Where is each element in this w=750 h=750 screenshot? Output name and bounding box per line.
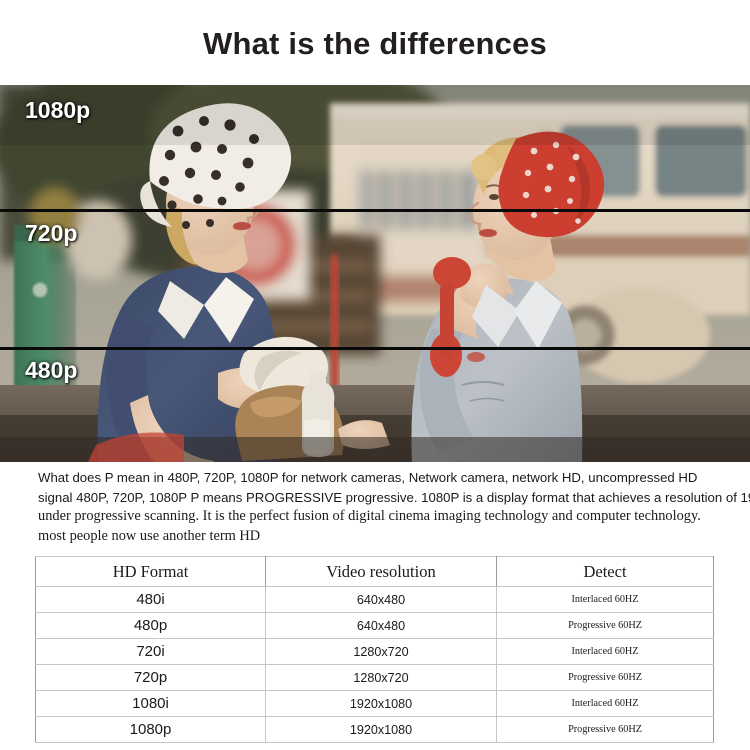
- cell-resolution: 640x480: [266, 587, 497, 613]
- photo-illustration: [0, 85, 750, 462]
- table-header-hd-format: HD Format: [36, 557, 266, 587]
- resolution-label-480p: 480p: [25, 359, 77, 382]
- paragraph-line-1: What does P mean in 480P, 720P, 1080P fo…: [38, 468, 750, 488]
- paragraph-line-2: signal 480P, 720P, 1080P P means PROGRES…: [38, 488, 750, 508]
- cell-resolution: 640x480: [266, 613, 497, 639]
- page-title: What is the differences: [0, 26, 750, 62]
- resolution-label-1080p: 1080p: [25, 99, 90, 122]
- cell-format: 720p: [36, 665, 266, 691]
- paragraph-line-3: under progressive scanning. It is the pe…: [38, 507, 750, 527]
- table-header-row: HD Format Video resolution Detect: [36, 557, 714, 587]
- cell-detect: Progressive 60HZ: [497, 613, 714, 639]
- table-header-video-resolution: Video resolution: [266, 557, 497, 587]
- cell-resolution: 1280x720: [266, 639, 497, 665]
- table-row: 720p 1280x720 Progressive 60HZ: [36, 665, 714, 691]
- cell-format: 480p: [36, 613, 266, 639]
- table-row: 480i 640x480 Interlaced 60HZ: [36, 587, 714, 613]
- cell-detect: Progressive 60HZ: [497, 665, 714, 691]
- cell-detect: Interlaced 60HZ: [497, 587, 714, 613]
- table-row: 1080i 1920x1080 Interlaced 60HZ: [36, 691, 714, 717]
- cell-detect: Interlaced 60HZ: [497, 691, 714, 717]
- band-divider-1080p-720p: [0, 209, 750, 212]
- table-row: 480p 640x480 Progressive 60HZ: [36, 613, 714, 639]
- cell-detect: Interlaced 60HZ: [497, 639, 714, 665]
- cell-format: 1080p: [36, 717, 266, 743]
- cell-format: 1080i: [36, 691, 266, 717]
- document-page: What is the differences: [0, 0, 750, 750]
- cell-resolution: 1920x1080: [266, 691, 497, 717]
- description-paragraph: What does P mean in 480P, 720P, 1080P fo…: [38, 468, 750, 546]
- resolution-label-720p: 720p: [25, 222, 77, 245]
- hd-format-table: HD Format Video resolution Detect 480i 6…: [35, 556, 714, 743]
- cell-resolution: 1280x720: [266, 665, 497, 691]
- cell-detect: Progressive 60HZ: [497, 717, 714, 743]
- table-row: 720i 1280x720 Interlaced 60HZ: [36, 639, 714, 665]
- cell-resolution: 1920x1080: [266, 717, 497, 743]
- comparison-photo: 1080p 720p 480p: [0, 85, 750, 462]
- cell-format: 720i: [36, 639, 266, 665]
- paragraph-line-4: most people now use another term HD: [38, 527, 750, 547]
- table-row: 1080p 1920x1080 Progressive 60HZ: [36, 717, 714, 743]
- band-divider-720p-480p: [0, 347, 750, 350]
- table-header-detect: Detect: [497, 557, 714, 587]
- cell-format: 480i: [36, 587, 266, 613]
